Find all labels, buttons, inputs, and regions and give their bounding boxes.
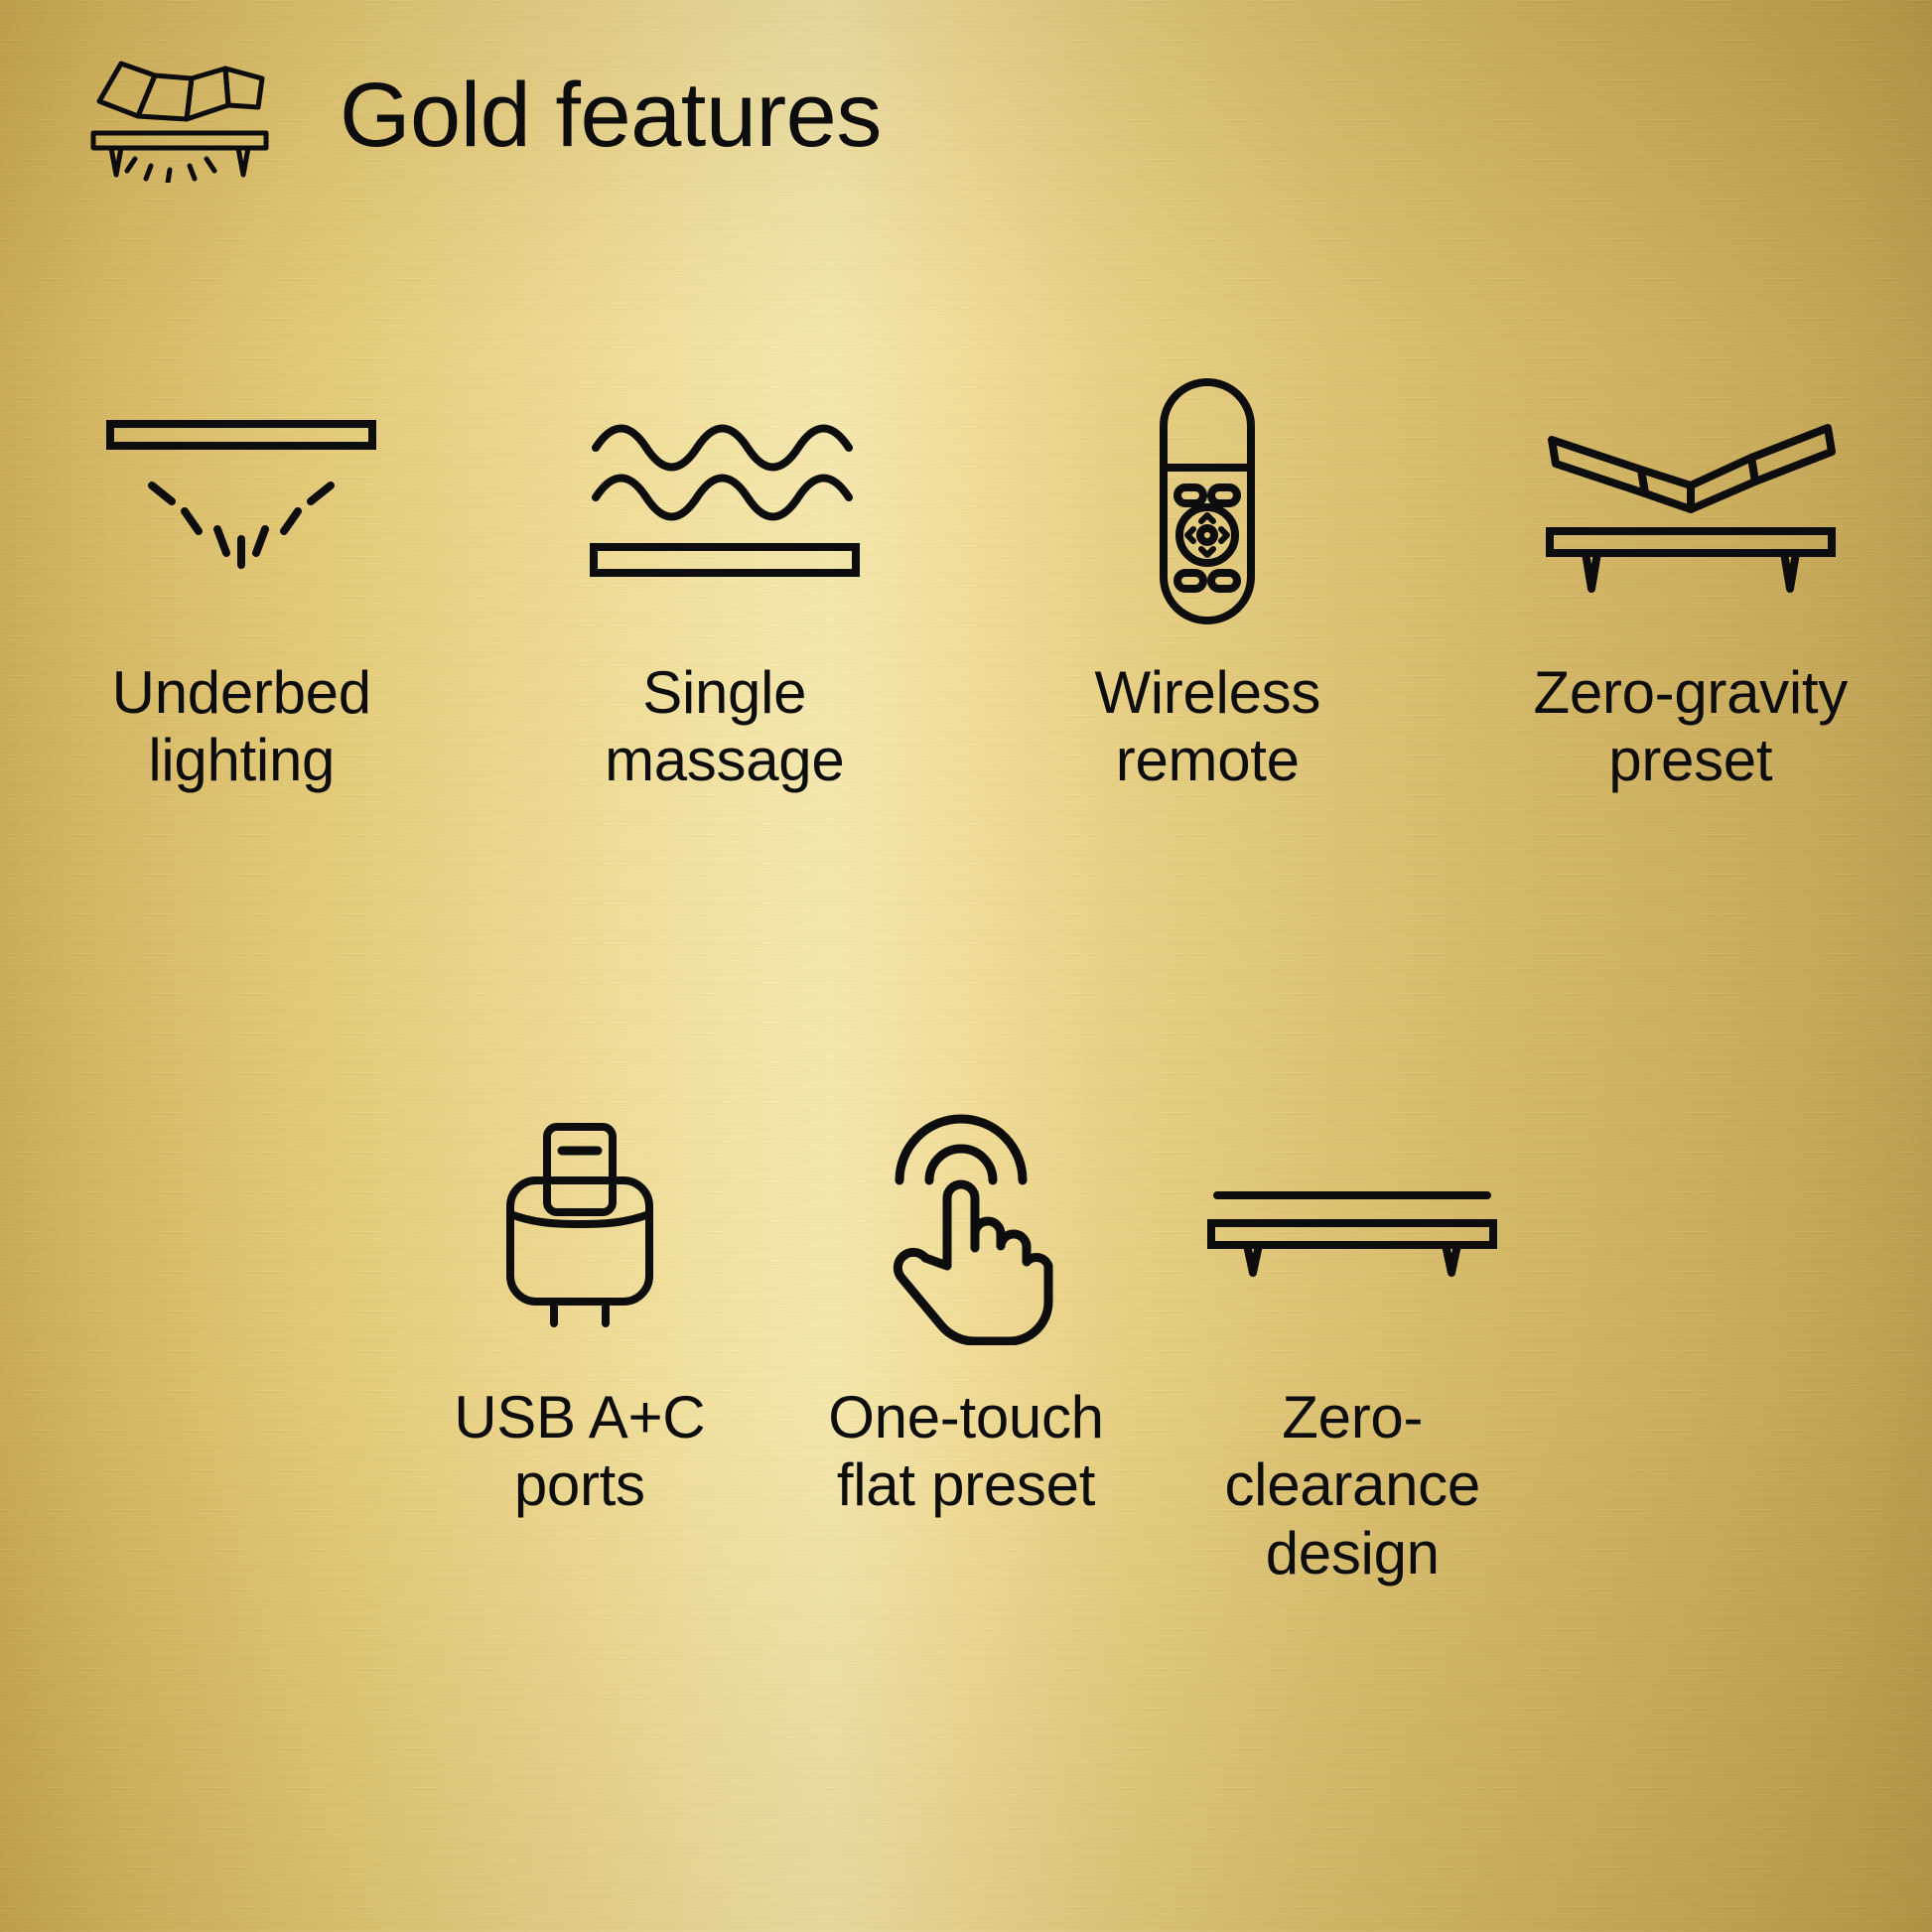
feature-usb-ports[interactable]: USB A+C ports — [386, 1102, 772, 1587]
zero-gravity-bed-icon — [1542, 377, 1840, 625]
feature-label: Zero-gravity preset — [1534, 659, 1848, 795]
feature-label: One-touch flat preset — [828, 1384, 1103, 1520]
feature-label: Single massage — [605, 659, 844, 795]
feature-label: Zero-clearance design — [1160, 1384, 1546, 1587]
feature-row-top: Underbed lighting Single massage — [0, 377, 1932, 795]
flat-bed-frame-icon — [1203, 1102, 1501, 1350]
touch-hand-icon — [872, 1102, 1060, 1350]
feature-underbed-lighting[interactable]: Underbed lighting — [0, 377, 483, 795]
row-spacer — [0, 1102, 386, 1587]
adjustable-bed-lighting-icon — [87, 48, 272, 183]
feature-zero-gravity-preset[interactable]: Zero-gravity preset — [1449, 377, 1932, 795]
feature-label: Wireless remote — [1094, 659, 1320, 795]
underbed-lighting-icon — [102, 377, 380, 625]
feature-label: Underbed lighting — [112, 659, 371, 795]
feature-one-touch-flat-preset[interactable]: One-touch flat preset — [772, 1102, 1159, 1587]
row-spacer — [1546, 1102, 1932, 1587]
usb-plug-icon — [492, 1102, 667, 1350]
massage-waves-icon — [586, 377, 864, 625]
feature-row-bottom: USB A+C ports One-touch flat preset — [0, 1102, 1932, 1587]
page-title: Gold features — [340, 69, 882, 161]
feature-single-massage[interactable]: Single massage — [483, 377, 967, 795]
feature-zero-clearance-design[interactable]: Zero-clearance design — [1160, 1102, 1546, 1587]
page-header: Gold features — [87, 48, 882, 183]
remote-control-icon — [1138, 377, 1277, 625]
gold-plate-background: Gold features — [0, 0, 1932, 1932]
feature-wireless-remote[interactable]: Wireless remote — [966, 377, 1449, 795]
feature-label: USB A+C ports — [454, 1384, 705, 1520]
